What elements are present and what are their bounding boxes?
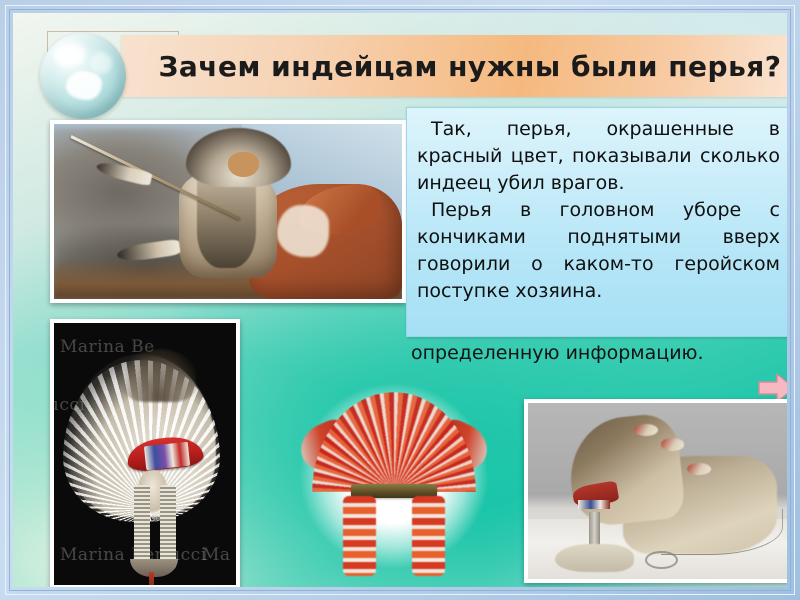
museum-ring (645, 551, 678, 569)
warrior-artwork (54, 124, 402, 299)
info-text-box: Так, перья, окрашенные в красный цвет, п… (406, 107, 787, 337)
globe-icon (40, 33, 126, 119)
white-headdress-right-drop (160, 485, 176, 569)
image-warrior-on-horseback (50, 120, 406, 303)
globe-landmass-c (90, 52, 112, 74)
white-headdress-scene: Marina Be lucci ucci Marina Berlucci Ma (54, 323, 236, 585)
image-white-feather-headdress: Marina Be lucci ucci Marina Berlucci Ma (50, 319, 240, 587)
red-headdress-left-trailer (343, 496, 376, 576)
museum-feather-tip-c (687, 463, 711, 475)
museum-scene (528, 403, 787, 579)
museum-feather-tip-b (661, 438, 685, 450)
title-banner: Зачем индейцам нужны были перья? (121, 35, 787, 97)
watermark-text: Ma (202, 545, 231, 565)
page-title: Зачем индейцам нужны были перья? (121, 35, 787, 97)
museum-bonnet-beadwork (578, 500, 610, 509)
globe-highlight (54, 42, 87, 64)
white-headdress-left-drop (134, 485, 150, 569)
presentation-slide: Зачем индейцам нужны были перья? (0, 0, 800, 600)
red-headdress-right-trailer (412, 496, 445, 576)
secondary-text-line-visible: определенную информацию. (411, 340, 787, 367)
white-headdress-dark-tips (123, 349, 196, 401)
image-red-feather-headdress (296, 376, 492, 576)
white-headdress-stem (149, 572, 154, 585)
info-paragraph-1: Так, перья, окрашенные в красный цвет, п… (417, 116, 780, 197)
white-headdress-beadwork (144, 441, 190, 469)
image-museum-war-bonnet (524, 399, 787, 583)
museum-base-pad (555, 544, 635, 572)
slide-canvas: Зачем индейцам нужны были перья? (13, 13, 787, 587)
warrior-face (228, 152, 259, 177)
white-headdress-base (130, 559, 177, 577)
warrior-horse-blaze (277, 205, 329, 258)
info-paragraph-2: Перья в головном уборе с кончиками подня… (417, 197, 780, 305)
globe-landmass-a (66, 71, 102, 100)
